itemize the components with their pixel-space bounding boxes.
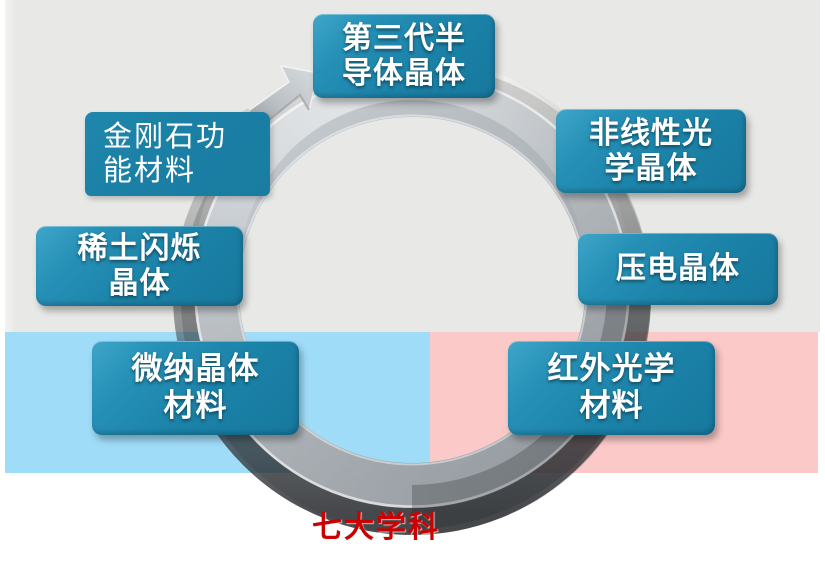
diagram-caption: 七大学科 [286, 502, 466, 546]
node-nonlinear-optical-crystal[interactable]: 非线性光 学晶体 [556, 109, 746, 193]
diagram-canvas: 第三代半 导体晶体 非线性光 学晶体 压电晶体 红外光学 材料 微纳晶体 材料 … [0, 0, 825, 568]
node-label: 压电晶体 [616, 251, 740, 286]
node-piezoelectric-crystal[interactable]: 压电晶体 [578, 233, 778, 305]
node-third-generation-semiconductor-crystal[interactable]: 第三代半 导体晶体 [313, 14, 495, 98]
node-micro-nano-crystal-material[interactable]: 微纳晶体 材料 [92, 341, 299, 435]
node-label: 第三代半 导体晶体 [342, 21, 466, 92]
node-infrared-optical-material[interactable]: 红外光学 材料 [508, 341, 715, 435]
node-label: 非线性光 学晶体 [589, 116, 713, 187]
node-label: 金刚石功 能材料 [103, 120, 227, 188]
node-label: 红外光学 材料 [548, 351, 676, 424]
node-rare-earth-scintillation-crystal[interactable]: 稀土闪烁 晶体 [36, 226, 243, 306]
node-diamond-functional-material[interactable]: 金刚石功 能材料 [85, 112, 270, 196]
node-label: 稀土闪烁 晶体 [78, 231, 202, 302]
node-label: 微纳晶体 材料 [132, 351, 260, 424]
